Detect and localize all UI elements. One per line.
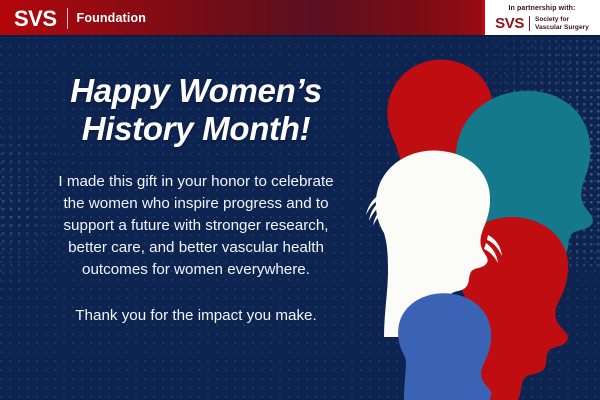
body-line-5: outcomes for women everywhere. xyxy=(24,259,368,281)
headline-line-1: Happy Women’s xyxy=(18,72,374,110)
svs-logo-mark: SVS xyxy=(14,8,57,30)
svs-foundation-logo: SVS Foundation xyxy=(14,5,146,32)
message-content: Happy Women’s History Month! I made this… xyxy=(0,37,392,400)
women-silhouettes-artwork xyxy=(360,37,600,400)
greeting-card: SVS Foundation In partnership with: SVS … xyxy=(0,0,600,400)
partnership-org-name: Society for Vascular Surgery xyxy=(535,16,589,31)
foundation-wordmark: Foundation xyxy=(77,12,147,25)
silhouette-blue-icon xyxy=(398,293,491,400)
partnership-org-line-1: Society for xyxy=(535,16,589,23)
headline-line-2: History Month! xyxy=(18,110,374,148)
body-line-3: support a future with stronger research, xyxy=(24,215,368,237)
partnership-logo-row: SVS Society for Vascular Surgery xyxy=(495,16,589,31)
partnership-title: In partnership with: xyxy=(509,5,576,12)
body-line-2: the women who inspire progress and to xyxy=(24,193,368,215)
header-bar: SVS Foundation In partnership with: SVS … xyxy=(0,0,600,37)
partnership-badge: In partnership with: SVS Society for Vas… xyxy=(482,0,600,37)
logo-divider xyxy=(67,8,68,29)
body-line-1: I made this gift in your honor to celebr… xyxy=(24,171,368,193)
partnership-accent-edge xyxy=(482,0,485,37)
partnership-svs-mark: SVS xyxy=(495,16,524,31)
closing-message: Thank you for the impact you make. xyxy=(18,305,374,327)
partnership-org-line-2: Vascular Surgery xyxy=(535,24,589,31)
partnership-divider xyxy=(529,16,530,31)
page-title: Happy Women’s History Month! xyxy=(18,72,374,149)
body-message: I made this gift in your honor to celebr… xyxy=(24,171,368,282)
body-line-4: better care, and better vascular health xyxy=(24,237,368,259)
